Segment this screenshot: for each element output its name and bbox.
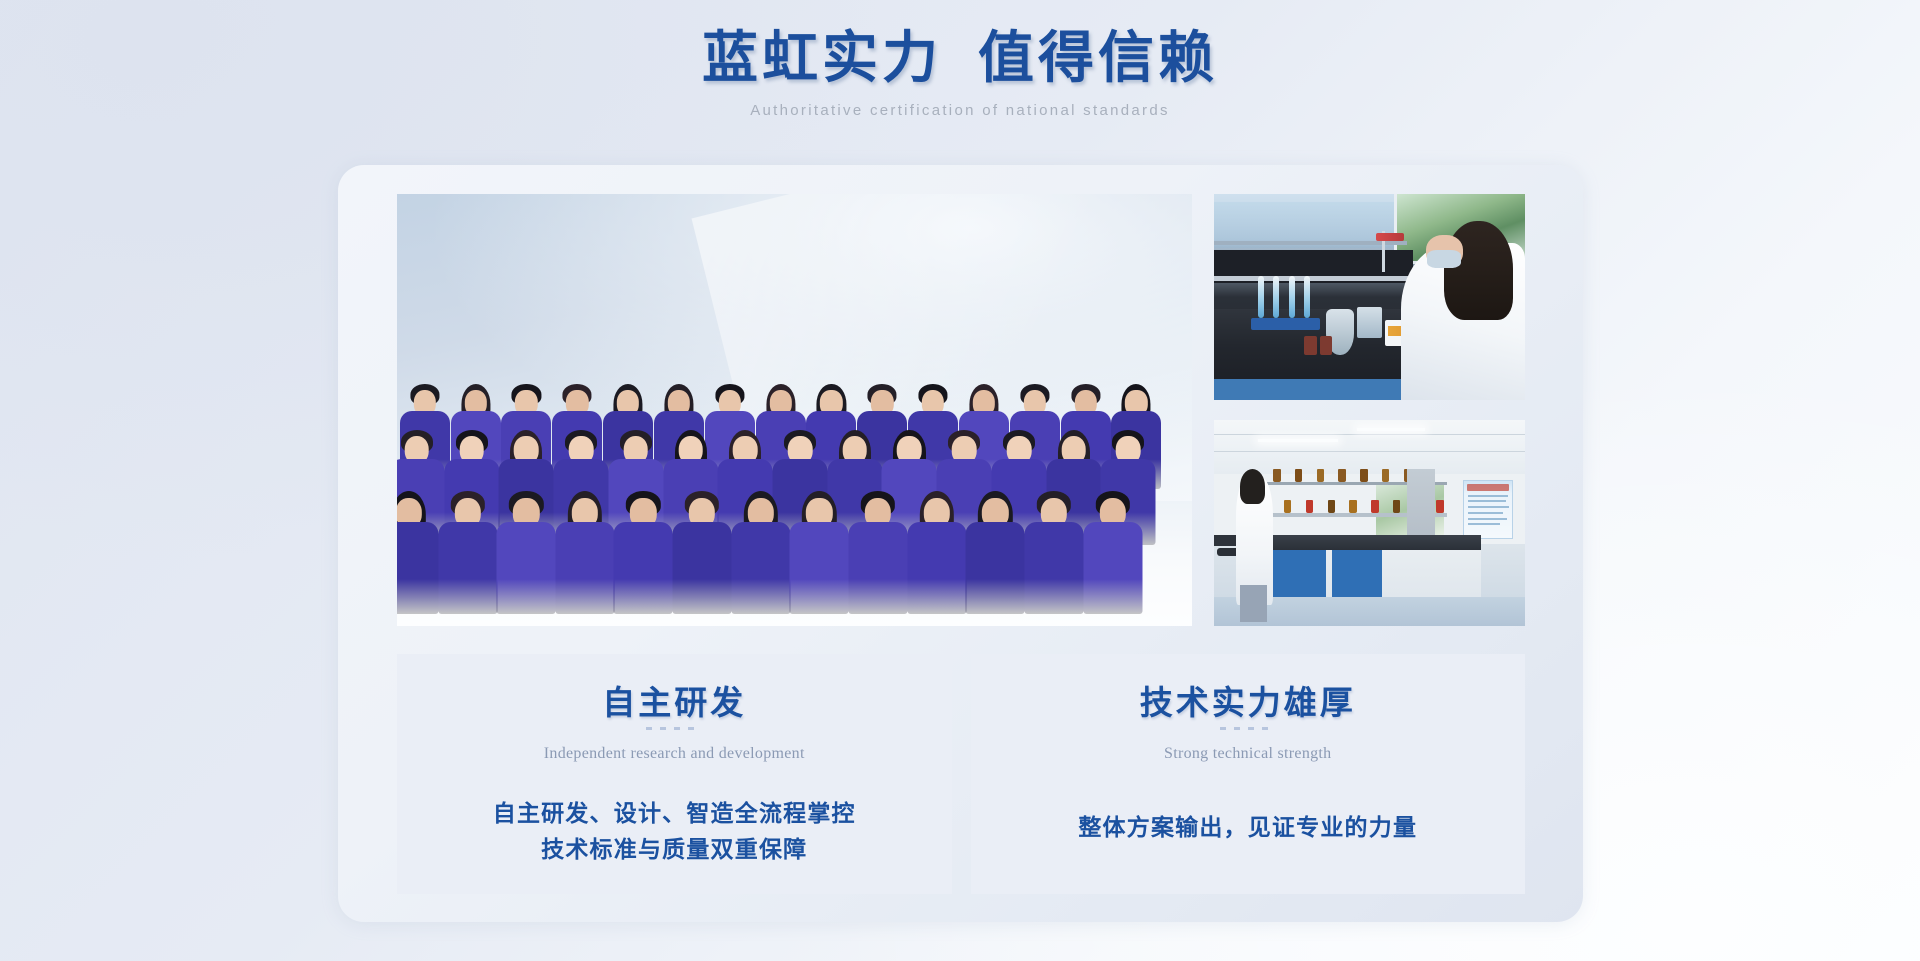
pipette-icon <box>1258 276 1264 317</box>
member-uniform <box>673 522 732 614</box>
team-group-photo <box>397 194 1192 626</box>
promo-page: 蓝虹实力 值得信赖 Authoritative certification of… <box>0 0 1920 961</box>
stand-clamp <box>1376 233 1404 241</box>
card-body-line: 整体方案输出，见证专业的力量 <box>989 810 1508 846</box>
team-member <box>731 491 790 622</box>
reagent-bottle <box>1306 500 1313 512</box>
reagent-bottle <box>1371 500 1378 512</box>
reagent-bottle <box>1284 500 1291 512</box>
card-subtitle: Strong technical strength <box>971 745 1526 763</box>
ceiling-grid-line <box>1214 434 1525 435</box>
page-title: 蓝虹实力 值得信赖 <box>0 26 1920 92</box>
team-member <box>555 491 614 622</box>
team-member <box>397 491 438 622</box>
member-uniform <box>438 522 497 614</box>
team-member <box>497 491 556 622</box>
card-title: 技术实力雄厚 <box>971 676 1526 724</box>
feature-card-technical-strength[interactable]: 技术实力雄厚 Strong technical strength 整体方案输出，… <box>971 654 1526 894</box>
feature-cards: 自主研发 Independent research and developmen… <box>397 654 1525 894</box>
reagent-bottle <box>1338 469 1345 481</box>
reagent-bottle <box>1320 336 1332 355</box>
card-body: 整体方案输出，见证专业的力量 <box>989 810 1508 846</box>
poster-header <box>1467 484 1509 491</box>
card-title: 自主研发 <box>397 676 952 724</box>
team-member <box>1024 491 1083 622</box>
team-member <box>614 491 673 622</box>
team-member <box>966 491 1025 622</box>
member-uniform <box>1083 522 1142 614</box>
member-uniform <box>614 522 673 614</box>
card-body-line: 自主研发、设计、智造全流程掌控 <box>415 796 934 832</box>
page-subtitle: Authoritative certification of national … <box>0 102 1920 119</box>
member-uniform <box>790 522 849 614</box>
worker-trousers <box>1240 585 1266 622</box>
feature-card-independent-rd[interactable]: 自主研发 Independent research and developmen… <box>397 654 952 894</box>
card-body-line: 技术标准与质量双重保障 <box>415 832 934 868</box>
team-member <box>790 491 849 622</box>
reagent-bottle <box>1360 469 1367 481</box>
team-member <box>1083 491 1142 622</box>
member-uniform <box>1024 522 1083 614</box>
laboratory-room-photo <box>1214 420 1525 626</box>
member-uniform <box>848 522 907 614</box>
poster-line <box>1468 495 1508 497</box>
media-gallery <box>397 194 1525 626</box>
bench-front-panel <box>1214 379 1432 400</box>
poster-line <box>1468 523 1500 525</box>
poster-line <box>1468 500 1506 502</box>
member-uniform <box>907 522 966 614</box>
pipette-icon <box>1289 276 1295 317</box>
member-uniform <box>966 522 1025 614</box>
poster-line <box>1468 512 1503 514</box>
reagent-bottle <box>1273 469 1280 481</box>
reagent-bottle <box>1436 500 1443 512</box>
team-member <box>848 491 907 622</box>
pipette-icon <box>1273 276 1279 317</box>
member-uniform <box>397 522 438 614</box>
pipette-icon <box>1304 276 1310 317</box>
pipette-rack <box>1251 318 1319 330</box>
group-photo-backdrop <box>397 194 1192 626</box>
team-member <box>673 491 732 622</box>
lab-technician-photo <box>1214 194 1525 400</box>
face-mask-icon <box>1427 250 1461 269</box>
content-panel: 自主研发 Independent research and developmen… <box>338 165 1583 922</box>
upper-shelf <box>1214 241 1407 245</box>
reagent-bottle <box>1328 500 1335 512</box>
reagent-bottle <box>1349 500 1356 512</box>
team-member <box>438 491 497 622</box>
lab-room-scene <box>1214 420 1525 626</box>
worker-hair <box>1240 469 1265 504</box>
page-header: 蓝虹实力 值得信赖 Authoritative certification of… <box>0 26 1920 119</box>
ceiling-grid-line <box>1214 451 1525 452</box>
dashed-divider <box>646 727 702 730</box>
reagent-bottle <box>1317 469 1324 481</box>
card-body: 自主研发、设计、智造全流程掌控 技术标准与质量双重保障 <box>415 796 934 867</box>
member-uniform <box>497 522 556 614</box>
ceiling-lamp <box>1357 428 1425 431</box>
reagent-bottle <box>1393 500 1400 512</box>
safety-poster <box>1463 480 1513 540</box>
island-benchtop <box>1258 535 1482 549</box>
member-uniform <box>731 522 790 614</box>
lower-shelf <box>1214 276 1438 281</box>
reagent-bottle <box>1295 469 1302 481</box>
beaker <box>1357 307 1382 338</box>
poster-line <box>1468 506 1509 508</box>
technician-hair <box>1444 221 1512 320</box>
dashed-divider <box>1220 727 1276 730</box>
card-subtitle: Independent research and development <box>397 745 952 763</box>
reagent-bottle <box>1382 469 1389 481</box>
team-member <box>907 491 966 622</box>
ceiling-lamp <box>1258 439 1339 442</box>
reagent-bottle <box>1304 336 1316 355</box>
poster-line <box>1468 518 1507 520</box>
member-uniform <box>555 522 614 614</box>
lab-bench-scene <box>1214 194 1525 400</box>
